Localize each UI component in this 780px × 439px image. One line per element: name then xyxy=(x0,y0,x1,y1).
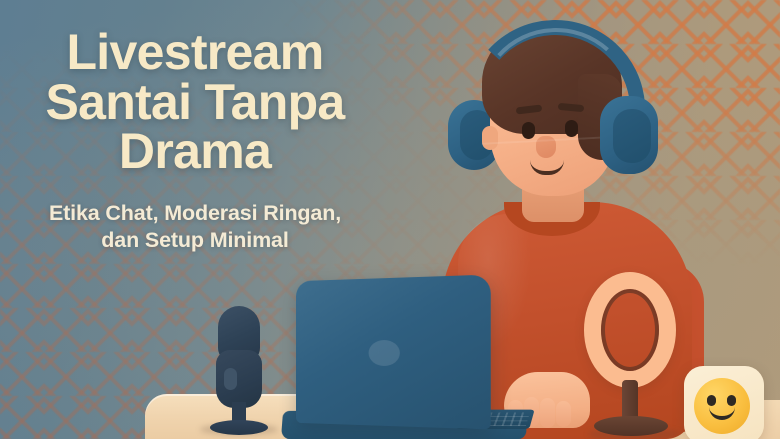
text-block: Livestream Santai Tanpa Drama Etika Chat… xyxy=(0,28,390,254)
microphone-base xyxy=(210,420,268,435)
headline-line-2: Santai Tanpa xyxy=(0,78,390,128)
slightly-smiling-face-icon xyxy=(694,378,750,434)
microphone-mute-button[interactable] xyxy=(224,368,237,390)
emoji-smile xyxy=(709,407,735,420)
headphone-cup-right-inner xyxy=(613,109,651,163)
laptop xyxy=(282,278,532,439)
ring-light xyxy=(578,272,688,439)
microphone-body xyxy=(216,350,262,408)
poster-canvas: Livestream Santai Tanpa Drama Etika Chat… xyxy=(0,0,780,439)
subhead-line-2: dan Setup Minimal xyxy=(0,227,390,254)
page-title: Livestream Santai Tanpa Drama xyxy=(0,28,390,177)
laptop-lid xyxy=(296,275,491,430)
laptop-logo-icon xyxy=(369,340,400,366)
smiley-emoji-card xyxy=(684,366,764,439)
avatar-finger xyxy=(556,401,571,427)
headline-line-3: Drama xyxy=(0,127,390,177)
ring-light-base xyxy=(594,416,668,436)
emoji-eye-left xyxy=(707,395,716,406)
emoji-eye-right xyxy=(727,395,736,406)
headline-line-1: Livestream xyxy=(0,28,390,78)
page-subtitle: Etika Chat, Moderasi Ringan, dan Setup M… xyxy=(0,200,390,254)
subhead-line-1: Etika Chat, Moderasi Ringan, xyxy=(0,200,390,227)
headphone-cup-right-icon xyxy=(600,96,658,174)
ring-light-inner-rim xyxy=(601,289,659,371)
avatar-finger xyxy=(540,398,555,428)
microphone xyxy=(202,306,276,434)
